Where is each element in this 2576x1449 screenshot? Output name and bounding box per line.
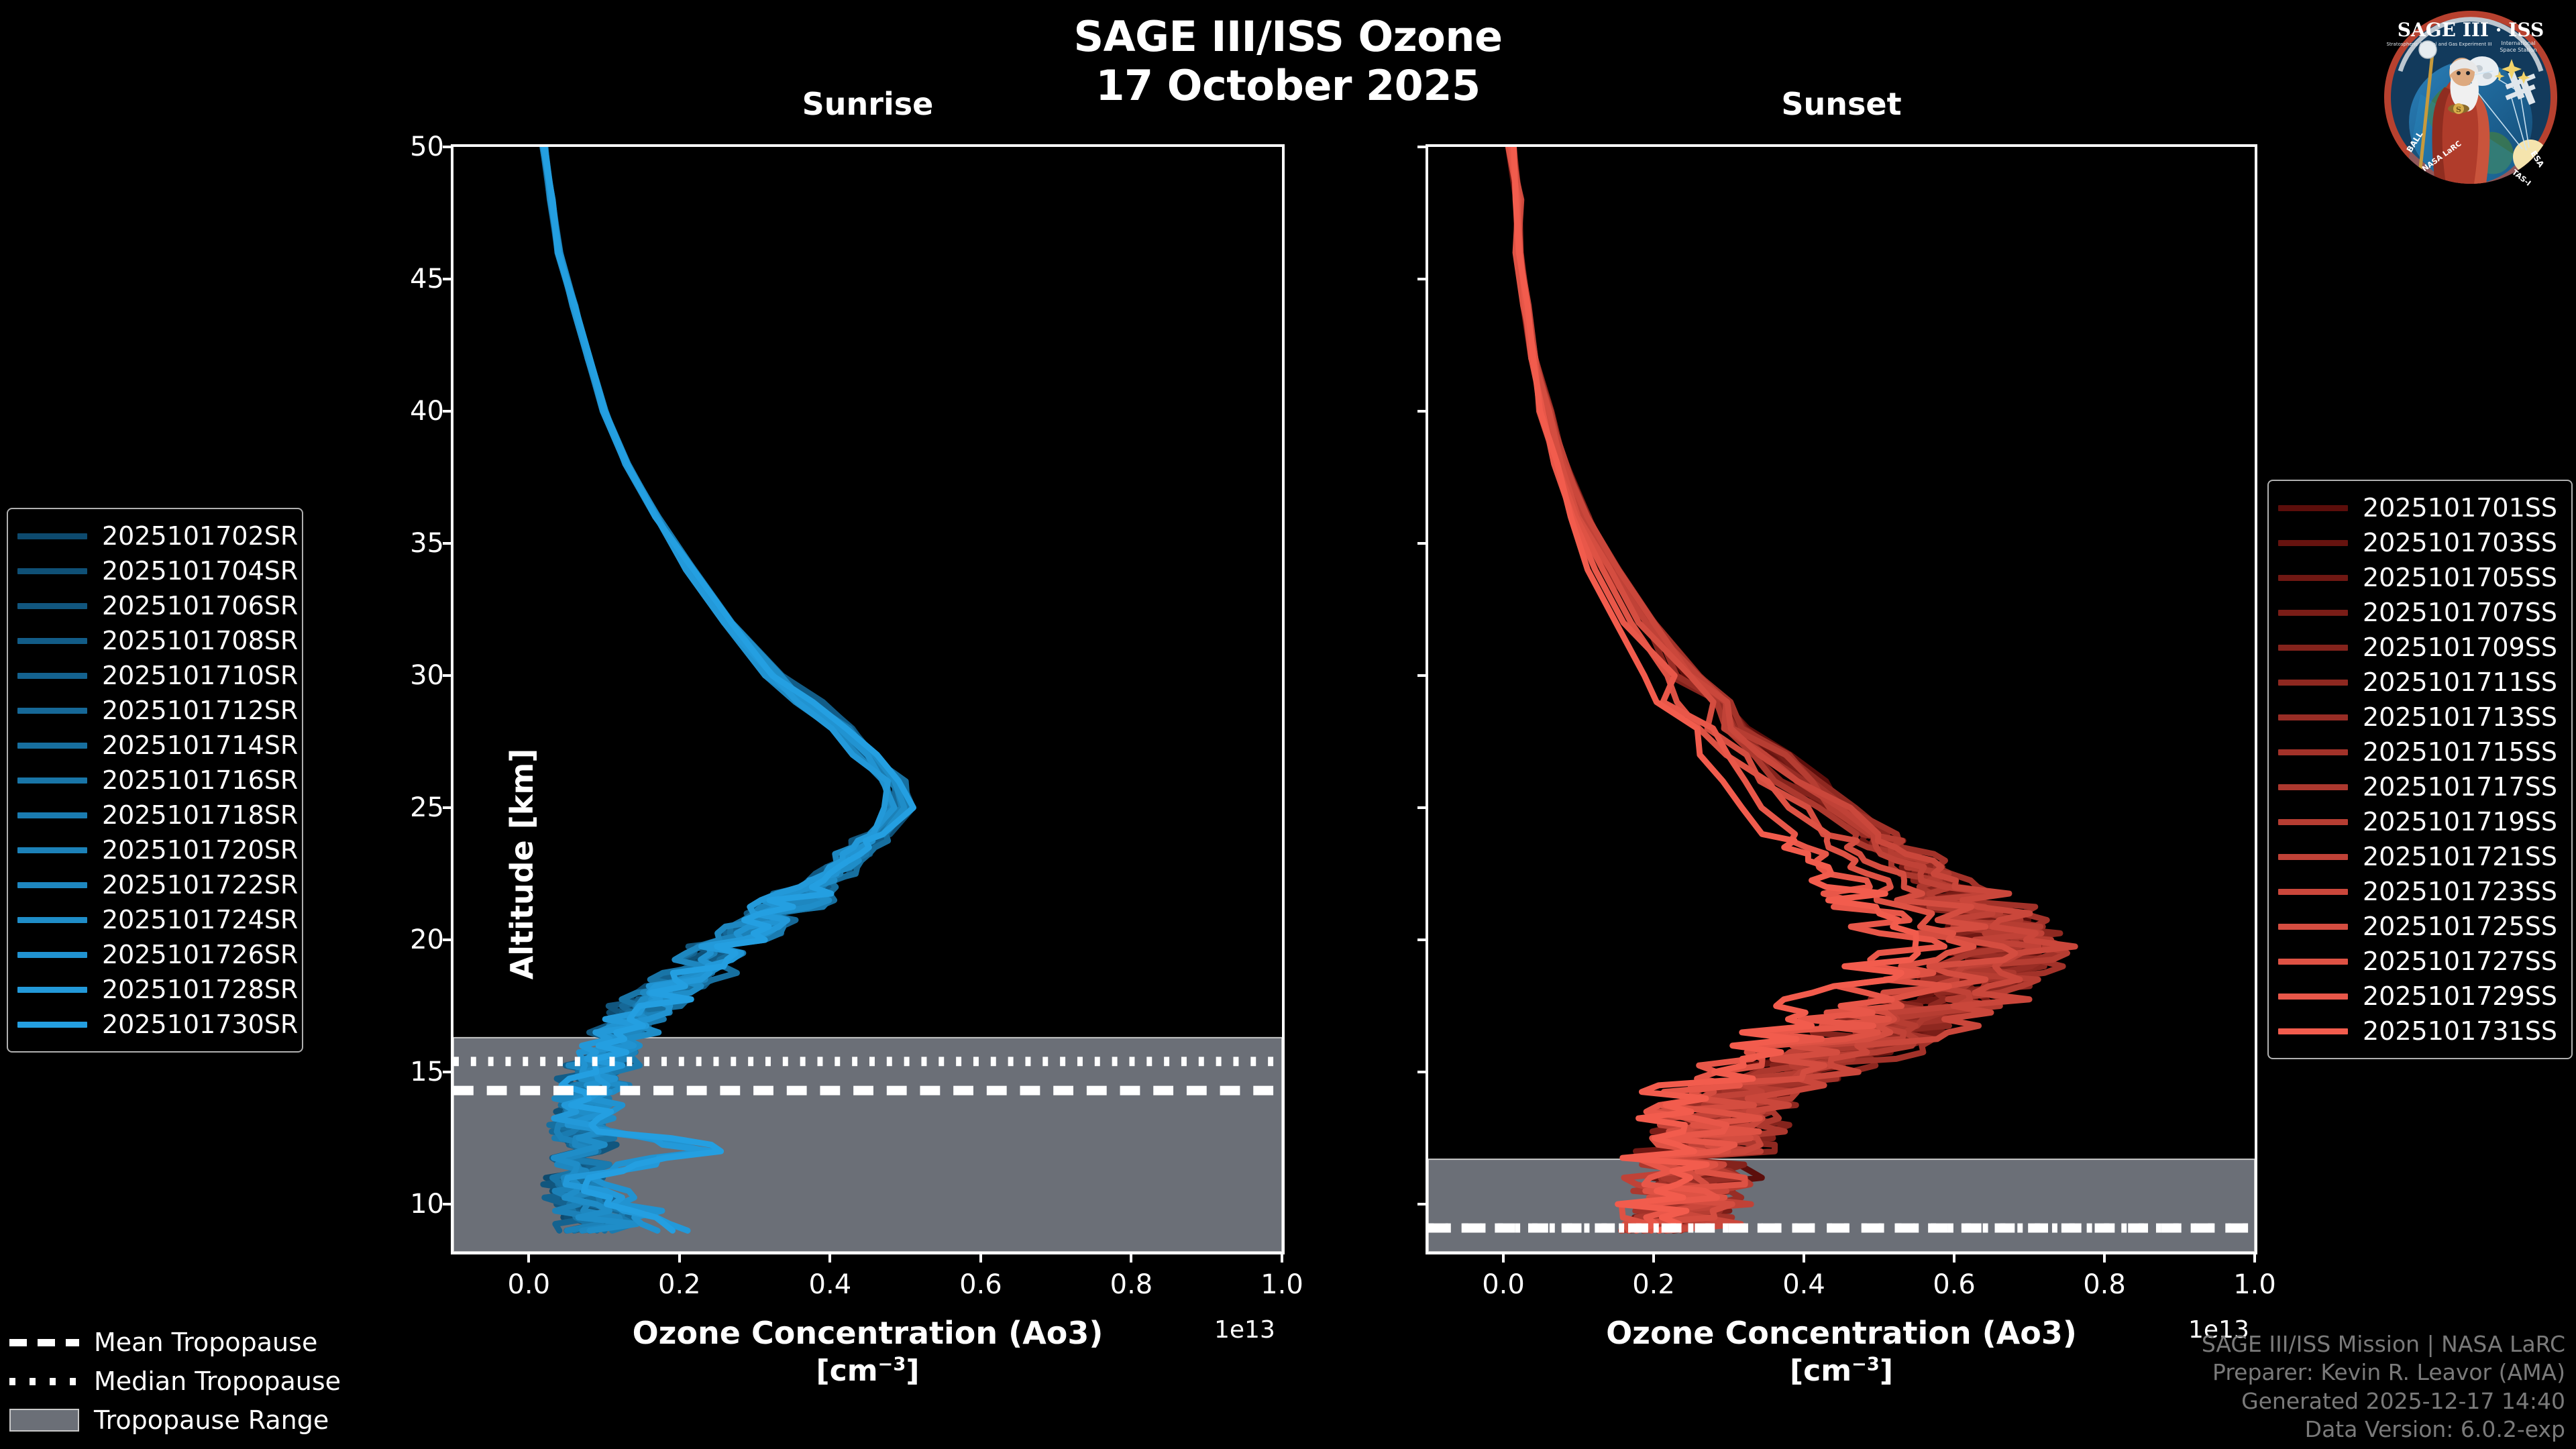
x-tick-mark [2103, 1252, 2106, 1263]
y-tick-label: 10 [343, 1189, 444, 1220]
x-tick-label: 1.0 [2233, 1269, 2276, 1300]
x-tick-mark [678, 1252, 681, 1263]
sunrise-legend-item[interactable]: 2025101718SR [17, 798, 290, 833]
x-tick-mark [828, 1252, 831, 1263]
sunset-legend-item[interactable]: 2025101725SS [2278, 909, 2559, 944]
y-tick-mark [1417, 278, 1428, 280]
legend-item-label: 2025101712SR [102, 696, 298, 725]
legend-color-swatch [2278, 819, 2348, 825]
y-tick-mark [443, 938, 453, 941]
legend-item-label: 2025101728SR [102, 975, 298, 1004]
legend-color-swatch [17, 603, 87, 609]
legend-color-swatch [17, 1022, 87, 1028]
legend-color-swatch [2278, 505, 2348, 511]
sunset-legend-item[interactable]: 2025101731SS [2278, 1014, 2559, 1049]
legend-color-swatch [2278, 854, 2348, 860]
sunset-legend-item[interactable]: 2025101711SS [2278, 665, 2559, 700]
legend-item-label: 2025101713SS [2363, 702, 2557, 732]
credits-preparer: Preparer: Kevin R. Leavor (AMA) [2202, 1358, 2565, 1387]
tropopause-dash-key-icon [9, 1339, 79, 1346]
legend-color-swatch [2278, 994, 2348, 1000]
sunset-legend-item[interactable]: 2025101705SS [2278, 560, 2559, 595]
sunset-legend-item[interactable]: 2025101727SS [2278, 944, 2559, 979]
sunset-legend-item[interactable]: 2025101713SS [2278, 700, 2559, 735]
legend-color-swatch [17, 882, 87, 888]
legend-color-swatch [17, 777, 87, 784]
legend-color-swatch [2278, 924, 2348, 930]
sunset-x-axis-label-text: Ozone Concentration (Ao3) [1606, 1315, 2077, 1351]
legend-item-label: 2025101723SS [2363, 877, 2557, 906]
sunrise-legend-item[interactable]: 2025101726SR [17, 937, 290, 972]
legend-color-swatch [2278, 645, 2348, 651]
legend-item-label: 2025101726SR [102, 940, 298, 969]
legend-item-label: 2025101709SS [2363, 633, 2557, 662]
sunrise-plot-area [453, 147, 1282, 1252]
sunrise-plot-axes: Altitude [km] 101520253035404550 0.00.20… [451, 144, 1285, 1254]
sunrise-panel-title: Sunrise [451, 86, 1285, 122]
figure-canvas: SAGE III/ISS Ozone 17 October 2025 Sunri… [0, 0, 2576, 1449]
sunset-x-axis-unit: [cm−3] [1426, 1354, 2257, 1389]
legend-item-label: 2025101708SR [102, 626, 298, 655]
title-line-1: SAGE III/ISS Ozone [0, 12, 2576, 61]
sunset-legend-item[interactable]: 2025101721SS [2278, 839, 2559, 874]
sunrise-x-axis-label: Ozone Concentration (Ao3) [cm−3] [451, 1315, 1285, 1389]
legend-color-swatch [17, 743, 87, 749]
tropopause-legend-item[interactable]: Tropopause Range [9, 1401, 341, 1440]
y-tick-label: 15 [343, 1057, 444, 1087]
legend-color-swatch [17, 568, 87, 574]
sunset-legend-item[interactable]: 2025101701SS [2278, 490, 2559, 525]
x-tick-mark [1502, 1252, 1505, 1263]
sunrise-legend-item[interactable]: 2025101714SR [17, 728, 290, 763]
legend-item-label: 2025101711SS [2363, 667, 2557, 697]
credits-mission: SAGE III/ISS Mission | NASA LaRC [2202, 1330, 2565, 1358]
tropopause-dot-key-icon [9, 1378, 79, 1385]
tropopause-range-band [1428, 1159, 2255, 1252]
tropopause-legend-item[interactable]: Mean Tropopause [9, 1323, 341, 1362]
legend-item-label: 2025101715SS [2363, 737, 2557, 767]
sunrise-legend-item[interactable]: 2025101704SR [17, 553, 290, 588]
legend-color-swatch [17, 708, 87, 714]
sunset-legend[interactable]: 2025101701SS2025101703SS2025101705SS2025… [2267, 480, 2573, 1059]
legend-color-swatch [2278, 749, 2348, 755]
x-tick-label: 0.6 [1933, 1269, 1976, 1300]
y-tick-mark [1417, 938, 1428, 941]
tropopause-legend-label: Mean Tropopause [94, 1328, 317, 1357]
legend-color-swatch [17, 533, 87, 539]
y-tick-mark [443, 542, 453, 545]
y-tick-mark [1417, 410, 1428, 413]
ozone-profile-line [1513, 147, 2021, 1230]
x-tick-label: 0.0 [507, 1269, 550, 1300]
y-axis-label: Altitude [km] [504, 723, 540, 1005]
sunset-x-axis-label: Ozone Concentration (Ao3) [cm−3] [1426, 1315, 2257, 1389]
legend-item-label: 2025101725SS [2363, 912, 2557, 941]
sunset-panel-title: Sunset [1426, 86, 2257, 122]
legend-color-swatch [17, 987, 87, 993]
y-tick-label: 30 [343, 660, 444, 691]
legend-item-label: 2025101729SS [2363, 981, 2557, 1011]
sunset-plot-axes: 0.00.20.40.60.81.0 [1426, 144, 2257, 1254]
legend-color-swatch [2278, 959, 2348, 965]
y-tick-label: 35 [343, 528, 444, 559]
svg-text:SAGE III · ISS: SAGE III · ISS [2398, 19, 2544, 41]
svg-text:TAS-I: TAS-I [2510, 168, 2532, 188]
x-tick-mark [2253, 1252, 2256, 1263]
sunrise-x-axis-label-text: Ozone Concentration (Ao3) [633, 1315, 1104, 1351]
legend-item-label: 2025101730SR [102, 1010, 298, 1039]
svg-text:Stratospheric Aerosol and Gas: Stratospheric Aerosol and Gas Experiment… [2386, 42, 2491, 47]
legend-color-swatch [2278, 610, 2348, 616]
y-tick-mark [1417, 1071, 1428, 1073]
x-tick-label: 0.2 [658, 1269, 701, 1300]
sunrise-legend-item[interactable]: 2025101730SR [17, 1007, 290, 1042]
legend-item-label: 2025101714SR [102, 731, 298, 760]
sunset-curves [1428, 147, 2255, 1252]
legend-item-label: 2025101717SS [2363, 772, 2557, 802]
y-tick-mark [1417, 674, 1428, 677]
sunset-plot-area [1428, 147, 2255, 1252]
y-tick-mark [443, 806, 453, 809]
x-tick-mark [979, 1252, 982, 1263]
x-tick-mark [1652, 1252, 1655, 1263]
tropopause-legend-label: Tropopause Range [94, 1405, 329, 1435]
y-tick-label: 20 [343, 924, 444, 955]
legend-item-label: 2025101705SS [2363, 563, 2557, 592]
sunrise-legend-item[interactable]: 2025101708SR [17, 623, 290, 658]
legend-color-swatch [2278, 680, 2348, 686]
y-tick-label: 45 [343, 264, 444, 294]
legend-color-swatch [2278, 714, 2348, 720]
svg-text:Space Station: Space Station [2500, 47, 2536, 53]
sage-iii-iss-mission-patch-logo: S SAGE III · ISS Stratospheric Aerosol a… [2380, 7, 2561, 188]
sunset-legend-item[interactable]: 2025101715SS [2278, 735, 2559, 769]
sunrise-legend-item[interactable]: 2025101720SR [17, 833, 290, 867]
sunrise-legend-item[interactable]: 2025101710SR [17, 658, 290, 693]
y-tick-label: 50 [343, 131, 444, 162]
legend-item-label: 2025101727SS [2363, 947, 2557, 976]
sunset-legend-item[interactable]: 2025101719SS [2278, 804, 2559, 839]
legend-color-swatch [2278, 1028, 2348, 1034]
sunset-legend-item[interactable]: 2025101707SS [2278, 595, 2559, 630]
sunrise-curves [453, 147, 1282, 1252]
legend-item-label: 2025101716SR [102, 765, 298, 795]
sunset-legend-item[interactable]: 2025101723SS [2278, 874, 2559, 909]
legend-color-swatch [17, 952, 87, 958]
sunrise-legend-item[interactable]: 2025101724SR [17, 902, 290, 937]
x-tick-label: 0.0 [1482, 1269, 1525, 1300]
tropopause-band-key-icon [9, 1409, 79, 1432]
y-tick-mark [443, 1071, 453, 1073]
sunrise-legend-item[interactable]: 2025101728SR [17, 972, 290, 1007]
svg-text:S: S [2456, 105, 2461, 114]
legend-item-label: 2025101707SS [2363, 598, 2557, 627]
sunrise-legend-item[interactable]: 2025101722SR [17, 867, 290, 902]
sunset-legend-item[interactable]: 2025101709SS [2278, 630, 2559, 665]
y-tick-mark [1417, 806, 1428, 809]
sunset-legend-item[interactable]: 2025101729SS [2278, 979, 2559, 1014]
legend-color-swatch [2278, 889, 2348, 895]
y-tick-label: 40 [343, 396, 444, 427]
x-tick-label: 0.8 [2083, 1269, 2126, 1300]
x-tick-mark [1281, 1252, 1283, 1263]
legend-color-swatch [2278, 784, 2348, 790]
credits-block: SAGE III/ISS Mission | NASA LaRC Prepare… [2202, 1330, 2565, 1444]
y-tick-mark [443, 674, 453, 677]
credits-generated: Generated 2025-12-17 14:40 [2202, 1387, 2565, 1415]
x-tick-mark [527, 1252, 530, 1263]
legend-item-label: 2025101721SS [2363, 842, 2557, 871]
y-tick-mark [1417, 146, 1428, 148]
y-tick-mark [443, 146, 453, 148]
sunrise-x-axis-unit: [cm−3] [451, 1354, 1285, 1389]
sunrise-legend-item[interactable]: 2025101702SR [17, 519, 290, 553]
x-tick-label: 1.0 [1260, 1269, 1303, 1300]
sunset-legend-item[interactable]: 2025101717SS [2278, 769, 2559, 804]
sunrise-legend-item[interactable]: 2025101716SR [17, 763, 290, 798]
x-tick-mark [1130, 1252, 1132, 1263]
legend-item-label: 2025101710SR [102, 661, 298, 690]
legend-item-label: 2025101722SR [102, 870, 298, 900]
sunrise-legend-item[interactable]: 2025101712SR [17, 693, 290, 728]
x-tick-label: 0.4 [809, 1269, 852, 1300]
y-tick-mark [1417, 542, 1428, 545]
tropopause-legend[interactable]: Mean TropopauseMedian TropopauseTropopau… [9, 1323, 341, 1440]
legend-item-label: 2025101720SR [102, 835, 298, 865]
legend-item-label: 2025101718SR [102, 800, 298, 830]
legend-item-label: 2025101702SR [102, 521, 298, 551]
tropopause-legend-label: Median Tropopause [94, 1366, 341, 1396]
credits-data-version: Data Version: 6.0.2-exp [2202, 1415, 2565, 1444]
y-tick-label: 25 [343, 792, 444, 823]
sunset-legend-item[interactable]: 2025101703SS [2278, 525, 2559, 560]
legend-color-swatch [2278, 575, 2348, 581]
legend-color-swatch [17, 638, 87, 644]
legend-item-label: 2025101704SR [102, 556, 298, 586]
legend-color-swatch [17, 847, 87, 853]
legend-item-label: 2025101731SS [2363, 1016, 2557, 1046]
legend-color-swatch [17, 917, 87, 923]
x-tick-label: 0.2 [1632, 1269, 1675, 1300]
sunrise-legend-item[interactable]: 2025101706SR [17, 588, 290, 623]
legend-color-swatch [17, 673, 87, 679]
sunrise-axis-offset-text: 1e13 [1214, 1316, 1275, 1344]
legend-item-label: 2025101719SS [2363, 807, 2557, 837]
legend-item-label: 2025101701SS [2363, 493, 2557, 523]
tropopause-legend-item[interactable]: Median Tropopause [9, 1362, 341, 1401]
y-tick-mark [1417, 1203, 1428, 1205]
y-tick-mark [443, 410, 453, 413]
y-tick-mark [443, 1203, 453, 1205]
legend-color-swatch [17, 812, 87, 818]
legend-item-label: 2025101724SR [102, 905, 298, 934]
x-tick-label: 0.4 [1782, 1269, 1825, 1300]
sunrise-legend[interactable]: 2025101702SR2025101704SR2025101706SR2025… [7, 508, 303, 1053]
x-tick-label: 0.6 [959, 1269, 1002, 1300]
x-tick-mark [1953, 1252, 1955, 1263]
legend-item-label: 2025101706SR [102, 591, 298, 621]
y-tick-mark [443, 278, 453, 280]
x-tick-mark [1803, 1252, 1805, 1263]
svg-text:International: International [2501, 40, 2535, 46]
legend-item-label: 2025101703SS [2363, 528, 2557, 557]
legend-color-swatch [2278, 540, 2348, 546]
x-tick-label: 0.8 [1110, 1269, 1153, 1300]
